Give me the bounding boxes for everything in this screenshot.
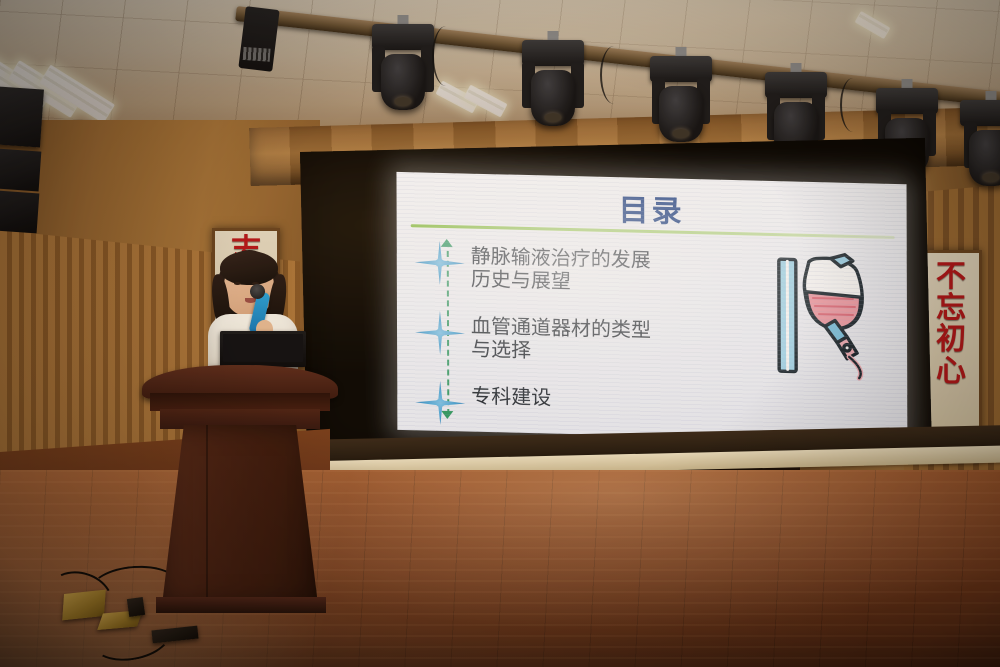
presentation-slide: 目录 静脉输液治疗的发展 历史与展望 血管通道器材的类型 与选择 专科建设 [396,172,907,442]
wall-speaker [0,191,39,234]
moving-head-light [370,24,436,120]
wall-speaker [0,86,44,147]
four-point-star-icon [415,240,465,285]
four-point-star-icon [415,380,465,425]
four-point-star-icon [415,310,465,355]
laptop [220,331,306,367]
wall-speaker [0,149,41,192]
iv-drip-bag-icon [767,245,883,384]
list-item: 血管通道器材的类型 与选择 [415,310,651,365]
moving-head-light [962,100,1000,188]
list-item: 静脉输液治疗的发展 历史与展望 [415,240,651,295]
presenter-eye [234,282,241,285]
moving-head-light [520,40,586,136]
truss-cable [840,78,866,132]
list-item-label: 血管通道器材的类型 与选择 [471,312,651,366]
lectern-body [162,425,318,605]
wall-banner-right-text: 不忘初心 [923,261,979,387]
presenter-hair-front [220,251,278,285]
truss-cable [432,26,460,86]
list-item: 专科建设 [415,380,551,427]
lectern-base [156,597,326,613]
moving-head-light [650,56,712,148]
led-screen-wall: 目录 静脉输液治疗的发展 历史与展望 血管通道器材的类型 与选择 专科建设 [300,138,932,462]
presentation-hall-scene: 不忘初心 志 目录 [0,0,1000,667]
truss-cable [600,46,628,104]
wooden-lectern [152,365,328,617]
list-item-label: 静脉输液治疗的发展 历史与展望 [471,242,651,296]
list-item-label: 专科建设 [471,382,551,410]
